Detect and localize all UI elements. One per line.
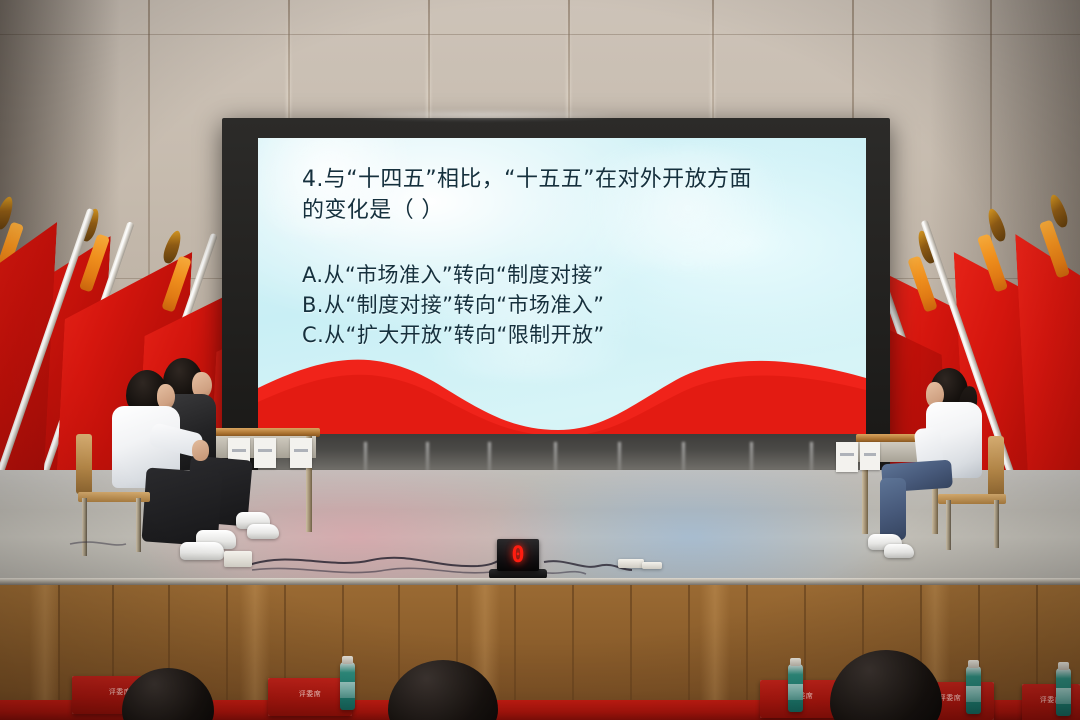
bezel-glint (332, 110, 632, 120)
desk-card (860, 442, 880, 470)
water-bottle (340, 662, 355, 710)
desk-card (254, 438, 276, 468)
slide-option-b: B.从“制度对接”转向“市场准入” (302, 290, 842, 320)
stage-photo: 4.与“十四五”相比，“十五五”在对外开放方面 的变化是（ ） A.从“市场准入… (0, 0, 1080, 720)
slide-content: 4.与“十四五”相比，“十五五”在对外开放方面 的变化是（ ） A.从“市场准入… (302, 164, 842, 350)
water-bottle (1056, 668, 1071, 716)
slide-option-a: A.从“市场准入”转向“制度对接” (302, 260, 842, 290)
timer-digit: 0 (497, 543, 539, 568)
wall-seam-horizontal (0, 34, 1080, 35)
power-adapter (618, 559, 644, 568)
power-adapter (642, 562, 662, 569)
water-bottle (788, 664, 803, 712)
projection-screen: 4.与“十四五”相比，“十五五”在对外开放方面 的变化是（ ） A.从“市场准入… (258, 138, 866, 490)
countdown-timer: 0 (497, 539, 539, 571)
desk-card (836, 442, 858, 472)
desk-card (290, 438, 312, 468)
water-bottle (966, 666, 981, 714)
stage-edge-trim (0, 578, 1080, 585)
slide-wave-graphic (258, 344, 866, 436)
slide-question: 4.与“十四五”相比，“十五五”在对外开放方面 的变化是（ ） (302, 164, 842, 226)
name-placard: 评委席 (1022, 684, 1080, 720)
slide-options: A.从“市场准入”转向“制度对接” B.从“制度对接”转向“市场准入” C.从“… (302, 260, 842, 350)
power-adapter (224, 551, 252, 567)
